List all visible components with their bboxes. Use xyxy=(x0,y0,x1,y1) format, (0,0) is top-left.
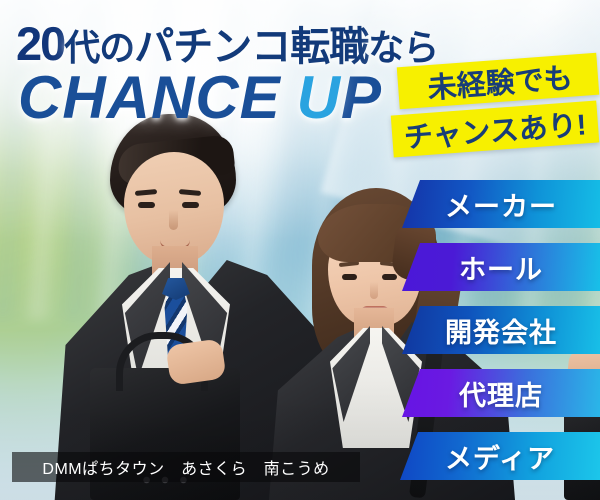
headline-number: 20 xyxy=(16,17,64,70)
category-label-hall: ホール xyxy=(459,248,543,287)
credit-text: DMMぱちタウン あさくら 南こうめ xyxy=(42,455,329,479)
category-label-maker: メーカー xyxy=(445,185,557,224)
category-button-maker[interactable]: メーカー xyxy=(402,180,600,228)
category-label-agency: 代理店 xyxy=(459,374,543,413)
logo-word-chance: CHANCE xyxy=(18,64,281,131)
category-button-agency[interactable]: 代理店 xyxy=(402,369,600,417)
businessman-nose xyxy=(169,210,178,230)
category-label-media: メディア xyxy=(445,437,555,476)
category-button-hall[interactable]: ホール xyxy=(402,243,600,291)
chance-up-logo: CHANCEUP xyxy=(18,68,382,128)
logo-accent-letter-u: U xyxy=(297,64,341,131)
category-label-development-company: 開発会社 xyxy=(445,311,557,350)
credit-band: DMMぱちタウン あさくら 南こうめ xyxy=(12,452,360,482)
category-button-media[interactable]: メディア xyxy=(400,432,600,480)
businesswoman-nose xyxy=(370,282,378,299)
businessman-eyebrow-left xyxy=(135,189,157,196)
headline-tail: なら xyxy=(368,27,438,68)
headline-mid: 代の xyxy=(64,27,134,68)
logo-letter-p: P xyxy=(341,64,382,131)
businesswoman-eye-right xyxy=(382,274,397,280)
businessman-eye-right xyxy=(182,202,199,208)
businessman-eyebrow-right xyxy=(179,189,201,196)
businesswoman-eye-left xyxy=(342,274,357,280)
headline-emphasis: パチンコ転職 xyxy=(134,25,368,69)
category-button-development-company[interactable]: 開発会社 xyxy=(402,306,600,354)
banner-ad[interactable]: 20代のパチンコ転職なら CHANCEUP 未経験でも チャンスあり! メーカー… xyxy=(0,0,600,500)
businessman-eye-left xyxy=(138,202,155,208)
